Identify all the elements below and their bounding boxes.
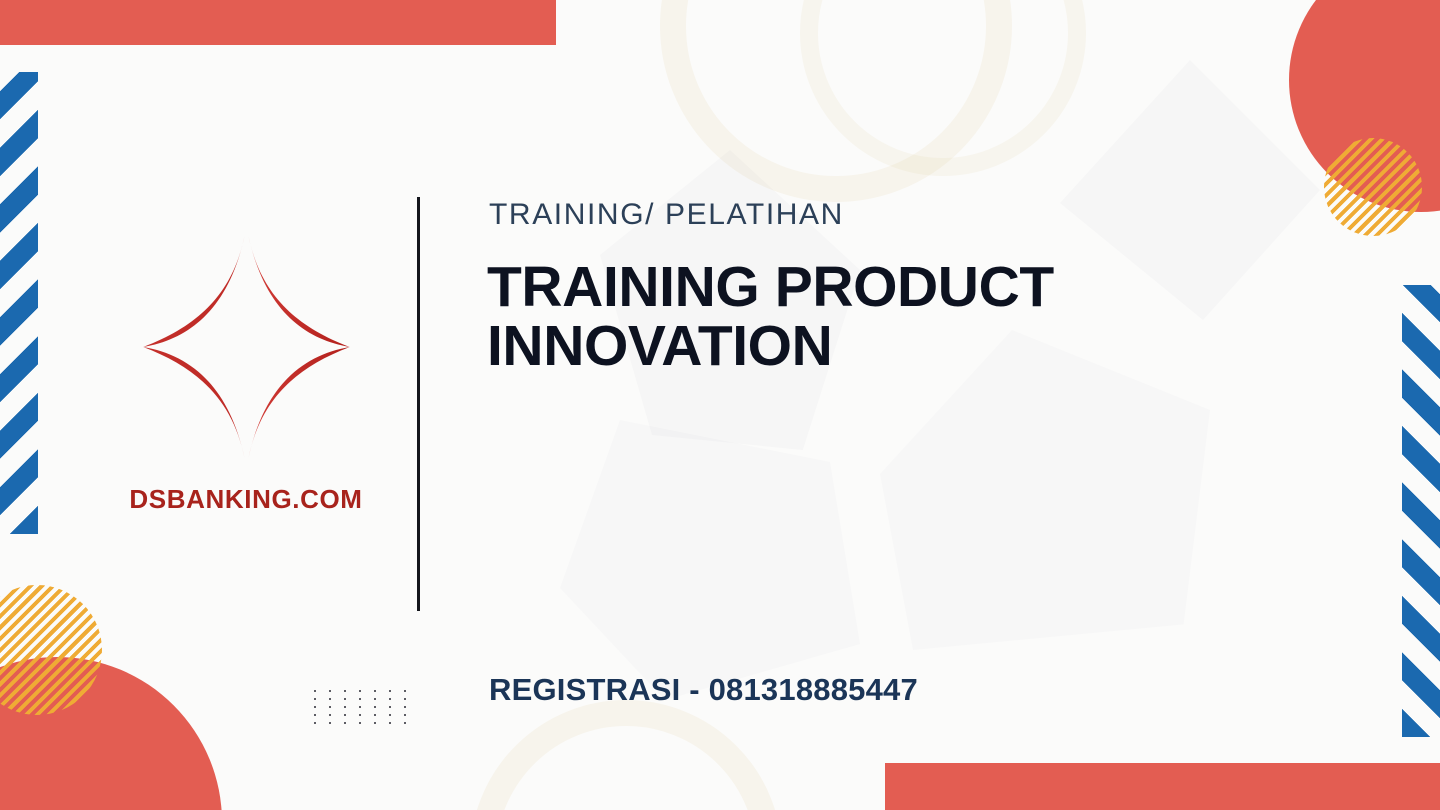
dot-grid-dot bbox=[314, 722, 316, 724]
dot-grid-dot bbox=[359, 714, 361, 716]
dot-grid-dot bbox=[404, 706, 406, 708]
dot-grid-dot bbox=[374, 690, 376, 692]
dot-grid-dot bbox=[374, 714, 376, 716]
dot-grid-dot bbox=[314, 714, 316, 716]
dot-grid-dot bbox=[404, 698, 406, 700]
dot-grid-dot bbox=[344, 690, 346, 692]
left-diagonal-stripes bbox=[0, 72, 38, 534]
dot-grid-dot bbox=[374, 722, 376, 724]
page-title: TRAINING PRODUCT INNOVATION bbox=[487, 258, 1187, 376]
watermark-ring-top-2 bbox=[800, 0, 1086, 176]
dot-grid-dot bbox=[314, 698, 316, 700]
dot-grid-dot bbox=[359, 722, 361, 724]
headline-line-2: INNOVATION bbox=[487, 317, 1187, 376]
watermark-polygon-3 bbox=[560, 420, 860, 700]
dot-grid-dot bbox=[389, 698, 391, 700]
eyebrow-label: TRAINING/ PELATIHAN bbox=[489, 198, 844, 232]
watermark-ring-bottom bbox=[470, 700, 782, 810]
dot-grid-dot bbox=[344, 722, 346, 724]
dot-grid-dot bbox=[344, 714, 346, 716]
dot-grid-dot bbox=[389, 706, 391, 708]
dot-grid-dot bbox=[329, 706, 331, 708]
dot-grid-dot bbox=[329, 690, 331, 692]
vertical-divider bbox=[417, 197, 420, 611]
dot-grid-dot bbox=[389, 690, 391, 692]
dot-grid-dot bbox=[404, 714, 406, 716]
brand-name: DSBANKING.COM bbox=[96, 484, 396, 515]
dot-grid-dot bbox=[359, 690, 361, 692]
dot-grid-dot bbox=[344, 698, 346, 700]
right-diagonal-stripes bbox=[1402, 285, 1440, 737]
dot-grid-dot bbox=[404, 722, 406, 724]
dot-grid-dot bbox=[404, 690, 406, 692]
dot-grid-dot bbox=[374, 706, 376, 708]
brand-logo-block: DSBANKING.COM bbox=[96, 232, 396, 515]
dot-grid-dot bbox=[389, 722, 391, 724]
watermark-polygon-2 bbox=[880, 330, 1210, 650]
headline-line-1: TRAINING PRODUCT bbox=[487, 258, 1187, 317]
watermark-ring-top bbox=[660, 0, 1012, 202]
poster-canvas: DSBANKING.COM TRAINING/ PELATIHAN TRAINI… bbox=[0, 0, 1440, 810]
dot-grid bbox=[314, 690, 406, 724]
dot-grid-dot bbox=[329, 698, 331, 700]
dot-grid-dot bbox=[359, 698, 361, 700]
diamond-star-logo-icon bbox=[139, 232, 354, 462]
dot-grid-dot bbox=[329, 722, 331, 724]
dot-grid-dot bbox=[314, 690, 316, 692]
bottom-right-red-bar bbox=[885, 763, 1440, 810]
registration-contact: REGISTRASI - 081318885447 bbox=[489, 672, 918, 708]
dot-grid-dot bbox=[329, 714, 331, 716]
dot-grid-dot bbox=[374, 698, 376, 700]
top-right-striped-circle bbox=[1324, 138, 1422, 236]
dot-grid-dot bbox=[314, 706, 316, 708]
dot-grid-dot bbox=[389, 714, 391, 716]
top-left-red-bar bbox=[0, 0, 556, 45]
dot-grid-dot bbox=[359, 706, 361, 708]
dot-grid-dot bbox=[344, 706, 346, 708]
